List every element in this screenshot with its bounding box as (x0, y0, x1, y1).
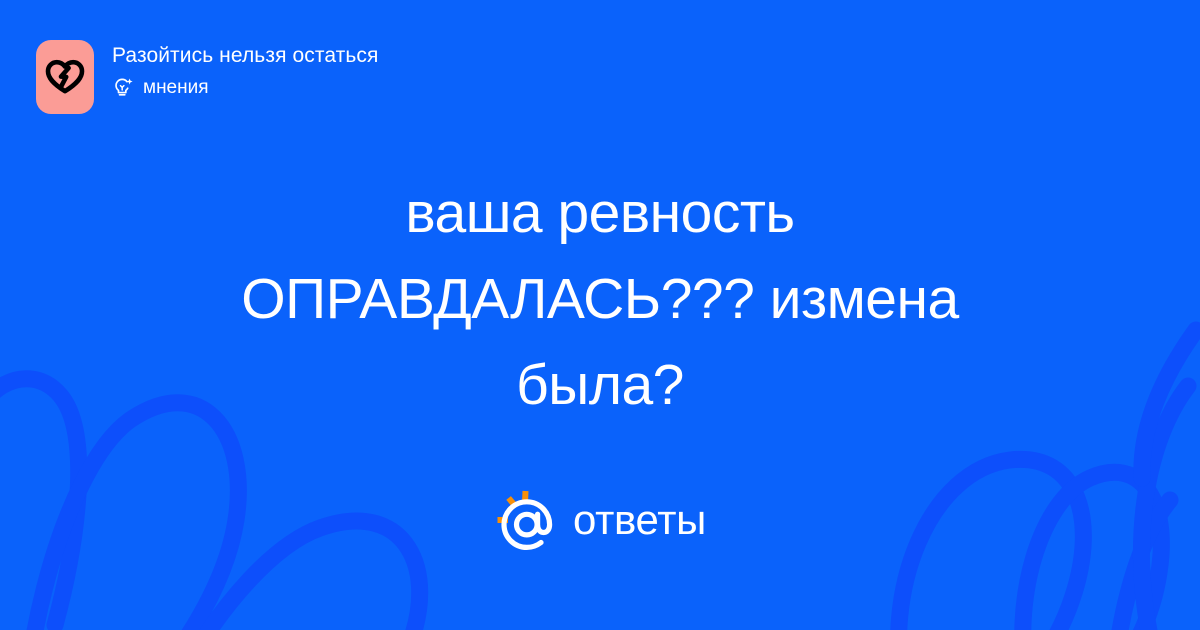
channel-text-block: Разойтись нельзя остаться мнения (112, 40, 379, 100)
channel-category-label: мнения (143, 76, 209, 100)
brand-lockup[interactable]: ответы (0, 487, 1200, 553)
lightbulb-sparkle-icon (112, 77, 134, 99)
brand-name: ответы (573, 496, 706, 544)
share-card: Разойтись нельзя остаться мнения ваша ре… (0, 0, 1200, 630)
channel-header[interactable]: Разойтись нельзя остаться мнения (36, 40, 379, 114)
channel-title: Разойтись нельзя остаться (112, 43, 379, 69)
broken-heart-icon (45, 57, 85, 97)
headline-line-1: ваша ревность (70, 170, 1130, 256)
at-sign-rays-icon (494, 487, 556, 553)
channel-avatar[interactable] (36, 40, 94, 114)
headline-line-3: была? (70, 342, 1130, 428)
headline-line-2: ОПРАВДАЛАСЬ??? измена (70, 256, 1130, 342)
channel-category: мнения (112, 76, 379, 100)
page-title: ваша ревность ОПРАВДАЛАСЬ??? измена была… (0, 170, 1200, 428)
